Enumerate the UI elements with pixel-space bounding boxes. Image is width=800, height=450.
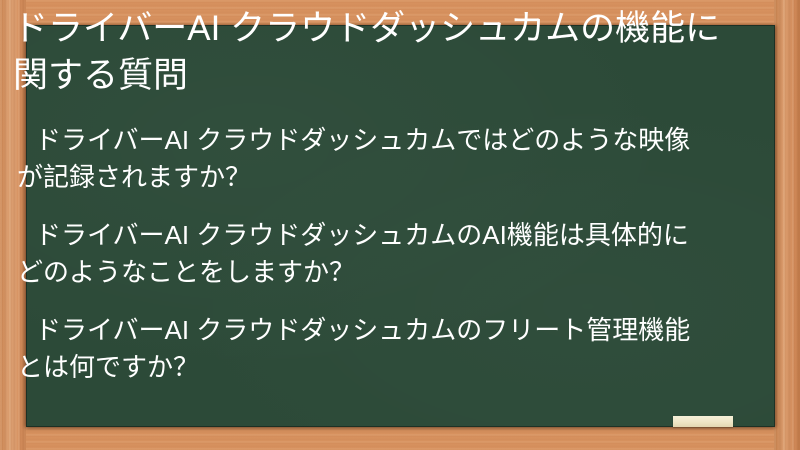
question-item: ドライバーAI クラウドダッシュカムのAI機能は具体的にどのようなことをしますか… <box>13 217 713 291</box>
question-list: ドライバーAI クラウドダッシュカムではどのような映像が記録されますか？ ドライ… <box>13 122 713 386</box>
slide-title: ドライバーAI クラウドダッシュカムの機能に関する質問 <box>13 5 733 99</box>
question-item: ドライバーAI クラウドダッシュカムではどのような映像が記録されますか？ <box>13 122 713 196</box>
slide-content: ドライバーAI クラウドダッシュカムの機能に関する質問 ドライバーAI クラウド… <box>0 0 800 450</box>
chalkboard-slide: ドライバーAI クラウドダッシュカムの機能に関する質問 ドライバーAI クラウド… <box>0 0 800 450</box>
question-item: ドライバーAI クラウドダッシュカムのフリート管理機能とは何ですか？ <box>13 312 713 386</box>
